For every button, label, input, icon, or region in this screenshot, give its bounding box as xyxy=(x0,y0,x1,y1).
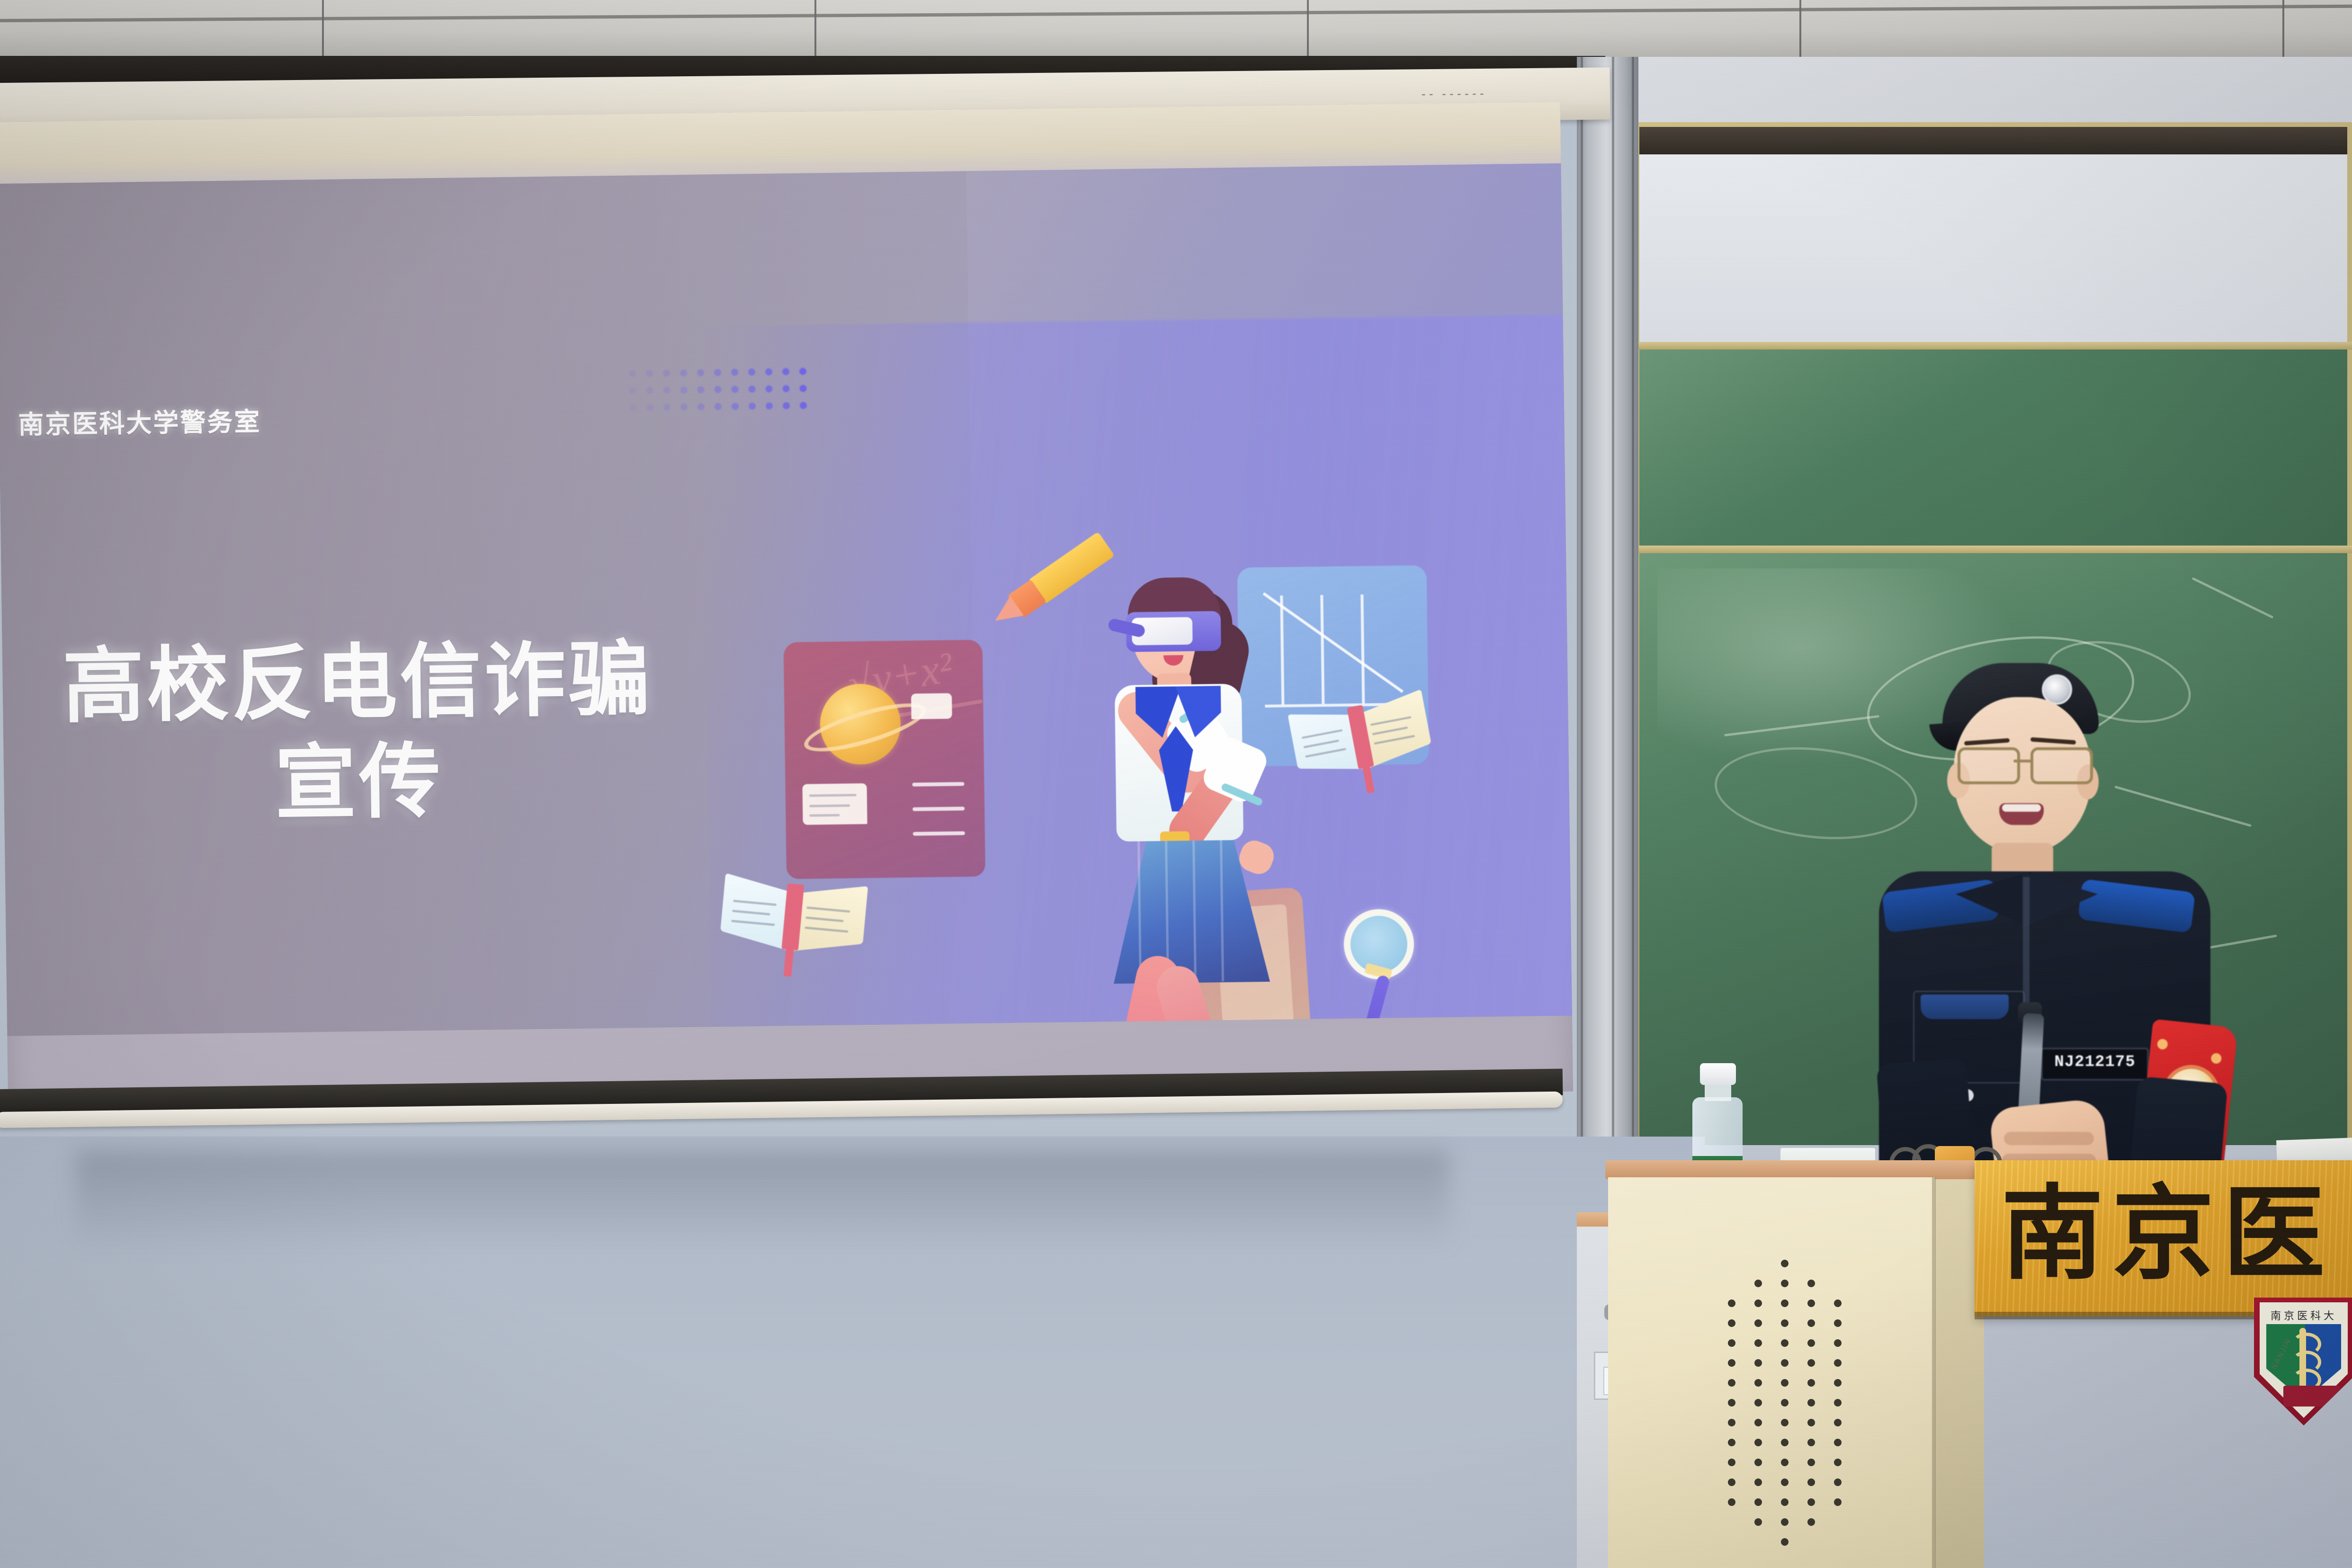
whiteboard-panel xyxy=(1639,154,2347,344)
badge-nameplate: NJ212175 xyxy=(2041,1048,2149,1081)
bottle-cap[interactable] xyxy=(1700,1063,1736,1085)
wall-pillar xyxy=(1577,57,1638,1146)
lectern xyxy=(1605,1160,1984,1568)
ceiling-seam xyxy=(1307,0,1309,57)
speaker-grille xyxy=(1707,1260,1863,1544)
screen-brand-label: ⁃⁃ ⁃⁃⁃⁃⁃⁃ xyxy=(1421,89,1487,101)
projector-screen: 南京医科大学警务室 高校反电信诈骗 宣传 √y+x² xyxy=(0,102,1573,1112)
slide-subtitle: 南京医科大学警务室 xyxy=(18,401,261,441)
classroom-scene: ⁃⁃ ⁃⁃⁃⁃⁃⁃ 南京医科大学警务室 高校反电信诈骗 宣传 √y+x² xyxy=(0,0,2352,1568)
uniform-wing-patch-icon xyxy=(1921,995,2009,1019)
pillar-seam xyxy=(1581,57,1583,1146)
badge-number: NJ212175 xyxy=(2043,1049,2147,1075)
card-line xyxy=(913,831,965,835)
planet-card xyxy=(784,640,986,879)
magnifier-icon xyxy=(1343,909,1414,980)
podium-sign-text: 南京医 xyxy=(2001,1173,2334,1298)
slide-illustration: √y+x² xyxy=(763,496,1481,1036)
graph-bar xyxy=(1360,594,1365,703)
crest-top-text: 南京医科大 xyxy=(2265,1308,2342,1324)
pillar-seam xyxy=(1612,57,1614,1146)
ceiling-seam xyxy=(2282,0,2284,57)
slide-title: 高校反电信诈骗 宣传 xyxy=(26,629,691,837)
blackboard-rail xyxy=(1635,342,2352,349)
slide-title-line-2: 宣传 xyxy=(27,729,691,837)
slide-title-line-1: 高校反电信诈骗 xyxy=(62,634,653,732)
lectern-top-edge xyxy=(1605,1160,1984,1179)
card-tag xyxy=(911,693,952,719)
glasses-icon xyxy=(1955,747,2093,781)
ceiling-seam xyxy=(322,0,324,57)
wall-shadow xyxy=(76,1151,1449,1250)
graph-bar xyxy=(1320,595,1324,704)
ceiling-seam xyxy=(814,0,816,57)
pillar-seam xyxy=(1632,57,1634,1146)
slide-projection: 南京医科大学警务室 高校反电信诈骗 宣传 √y+x² xyxy=(0,163,1572,1036)
blackboard-panel-upper xyxy=(1639,349,2347,548)
card-line xyxy=(912,806,965,811)
student-figure xyxy=(1014,527,1315,1036)
card-tag xyxy=(802,783,867,825)
card-line xyxy=(912,782,964,786)
blackboard-rail xyxy=(1635,546,2352,553)
slide-dot-grid xyxy=(624,362,812,416)
podium-nameplate-sign: 南京医 xyxy=(1975,1160,2352,1317)
blackboard-top-recess xyxy=(1639,127,2347,155)
